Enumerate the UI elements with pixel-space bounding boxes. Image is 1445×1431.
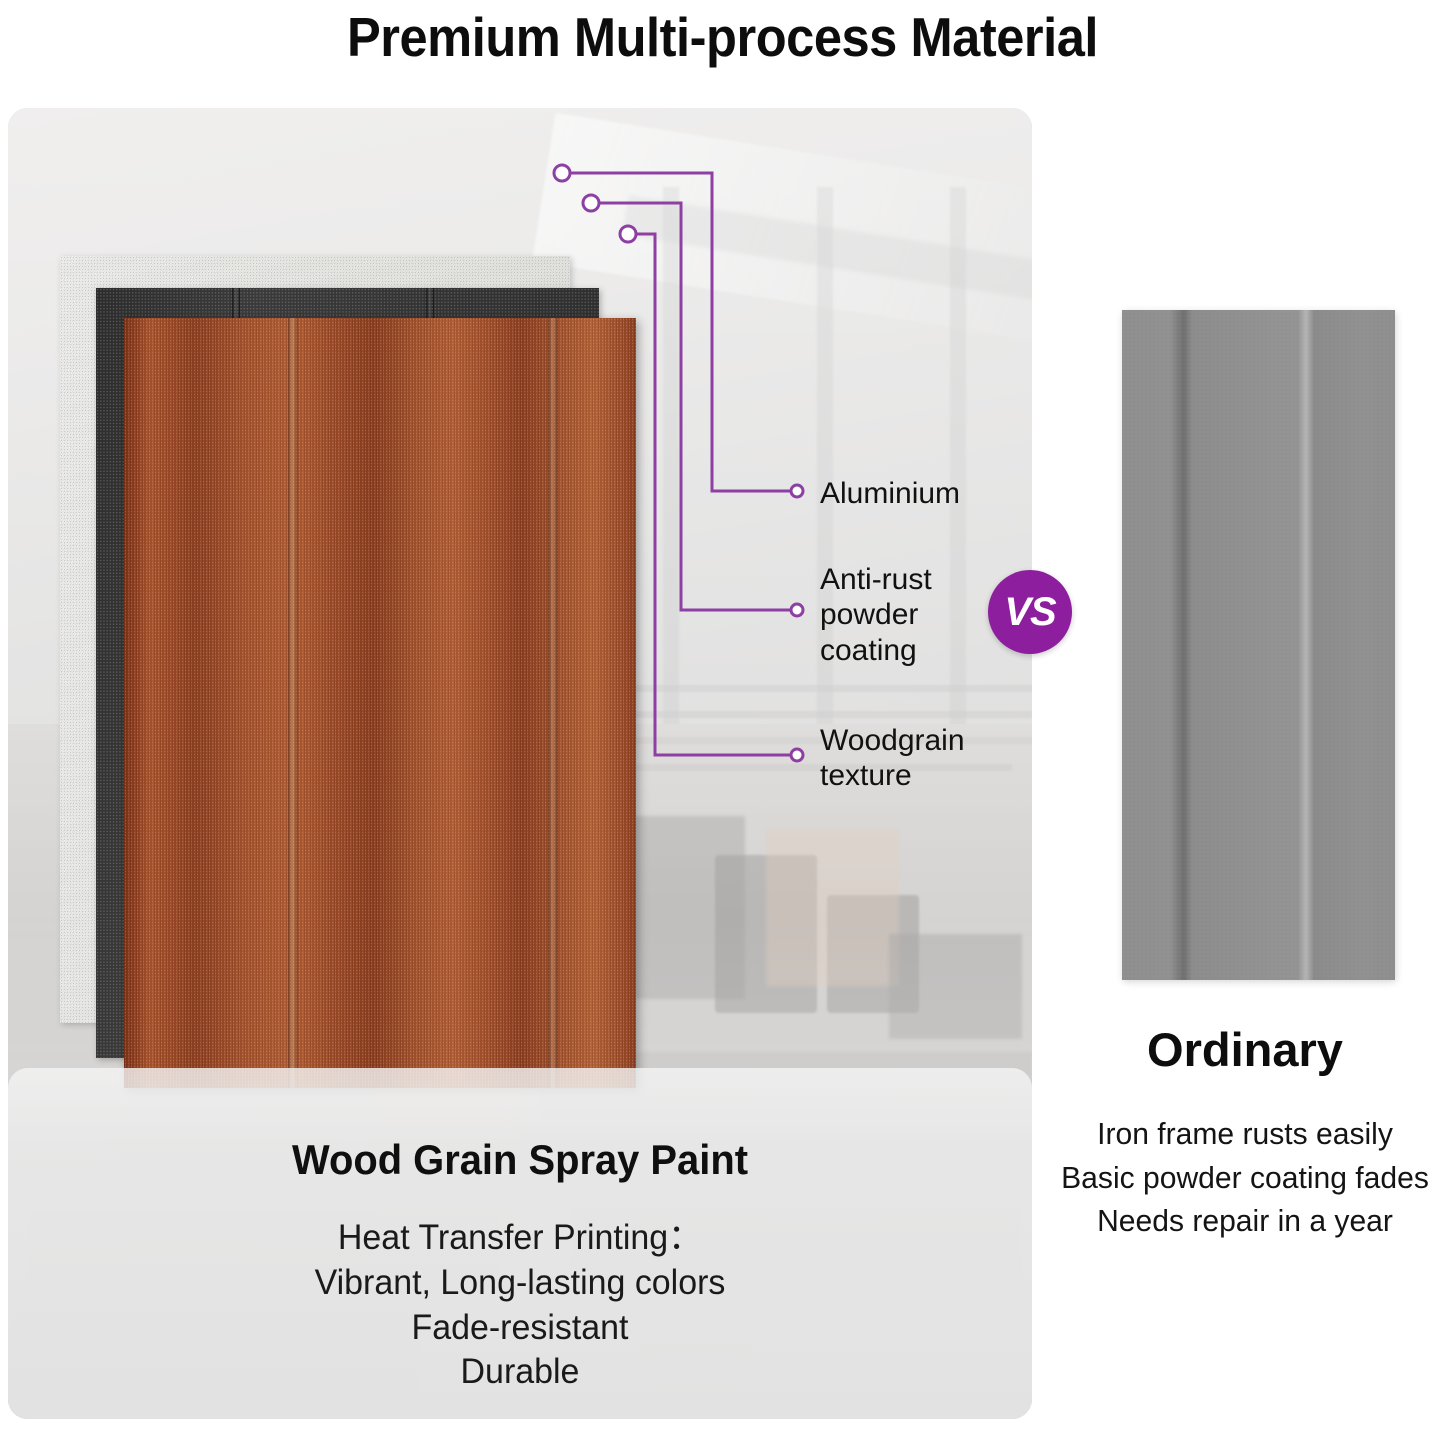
caption-line-1: Heat Transfer Printing： — [23, 1216, 1016, 1261]
ordinary-title: Ordinary — [1045, 1022, 1445, 1077]
ordinary-line-2: Basic powder coating fades — [1051, 1156, 1439, 1200]
wood-grain-caption-panel: Wood Grain Spray Paint Heat Transfer Pri… — [8, 1068, 1032, 1419]
woodgrain-texture-layer — [124, 318, 636, 1088]
ordinary-panel-image — [1122, 310, 1395, 980]
callout-label-aluminium: Aluminium — [820, 476, 960, 511]
page-title: Premium Multi-process Material — [58, 0, 1387, 74]
caption-line-2: Vibrant, Long-lasting colors — [23, 1261, 1016, 1306]
caption-title: Wood Grain Spray Paint — [34, 1136, 1007, 1184]
vs-badge-label: VS — [1004, 590, 1055, 635]
callout-label-woodgrain: Woodgrain texture — [820, 723, 965, 794]
caption-lines: Heat Transfer Printing： Vibrant, Long-la… — [8, 1216, 1032, 1395]
ordinary-line-1: Iron frame rusts easily — [1051, 1112, 1439, 1156]
ordinary-lines: Iron frame rusts easily Basic powder coa… — [1045, 1112, 1445, 1243]
caption-line-3: Fade-resistant — [23, 1306, 1016, 1351]
callout-label-anti-rust: Anti-rust powder coating — [820, 562, 932, 668]
caption-line-4: Durable — [23, 1350, 1016, 1395]
vs-badge: VS — [988, 570, 1072, 654]
ordinary-line-3: Needs repair in a year — [1051, 1199, 1439, 1243]
